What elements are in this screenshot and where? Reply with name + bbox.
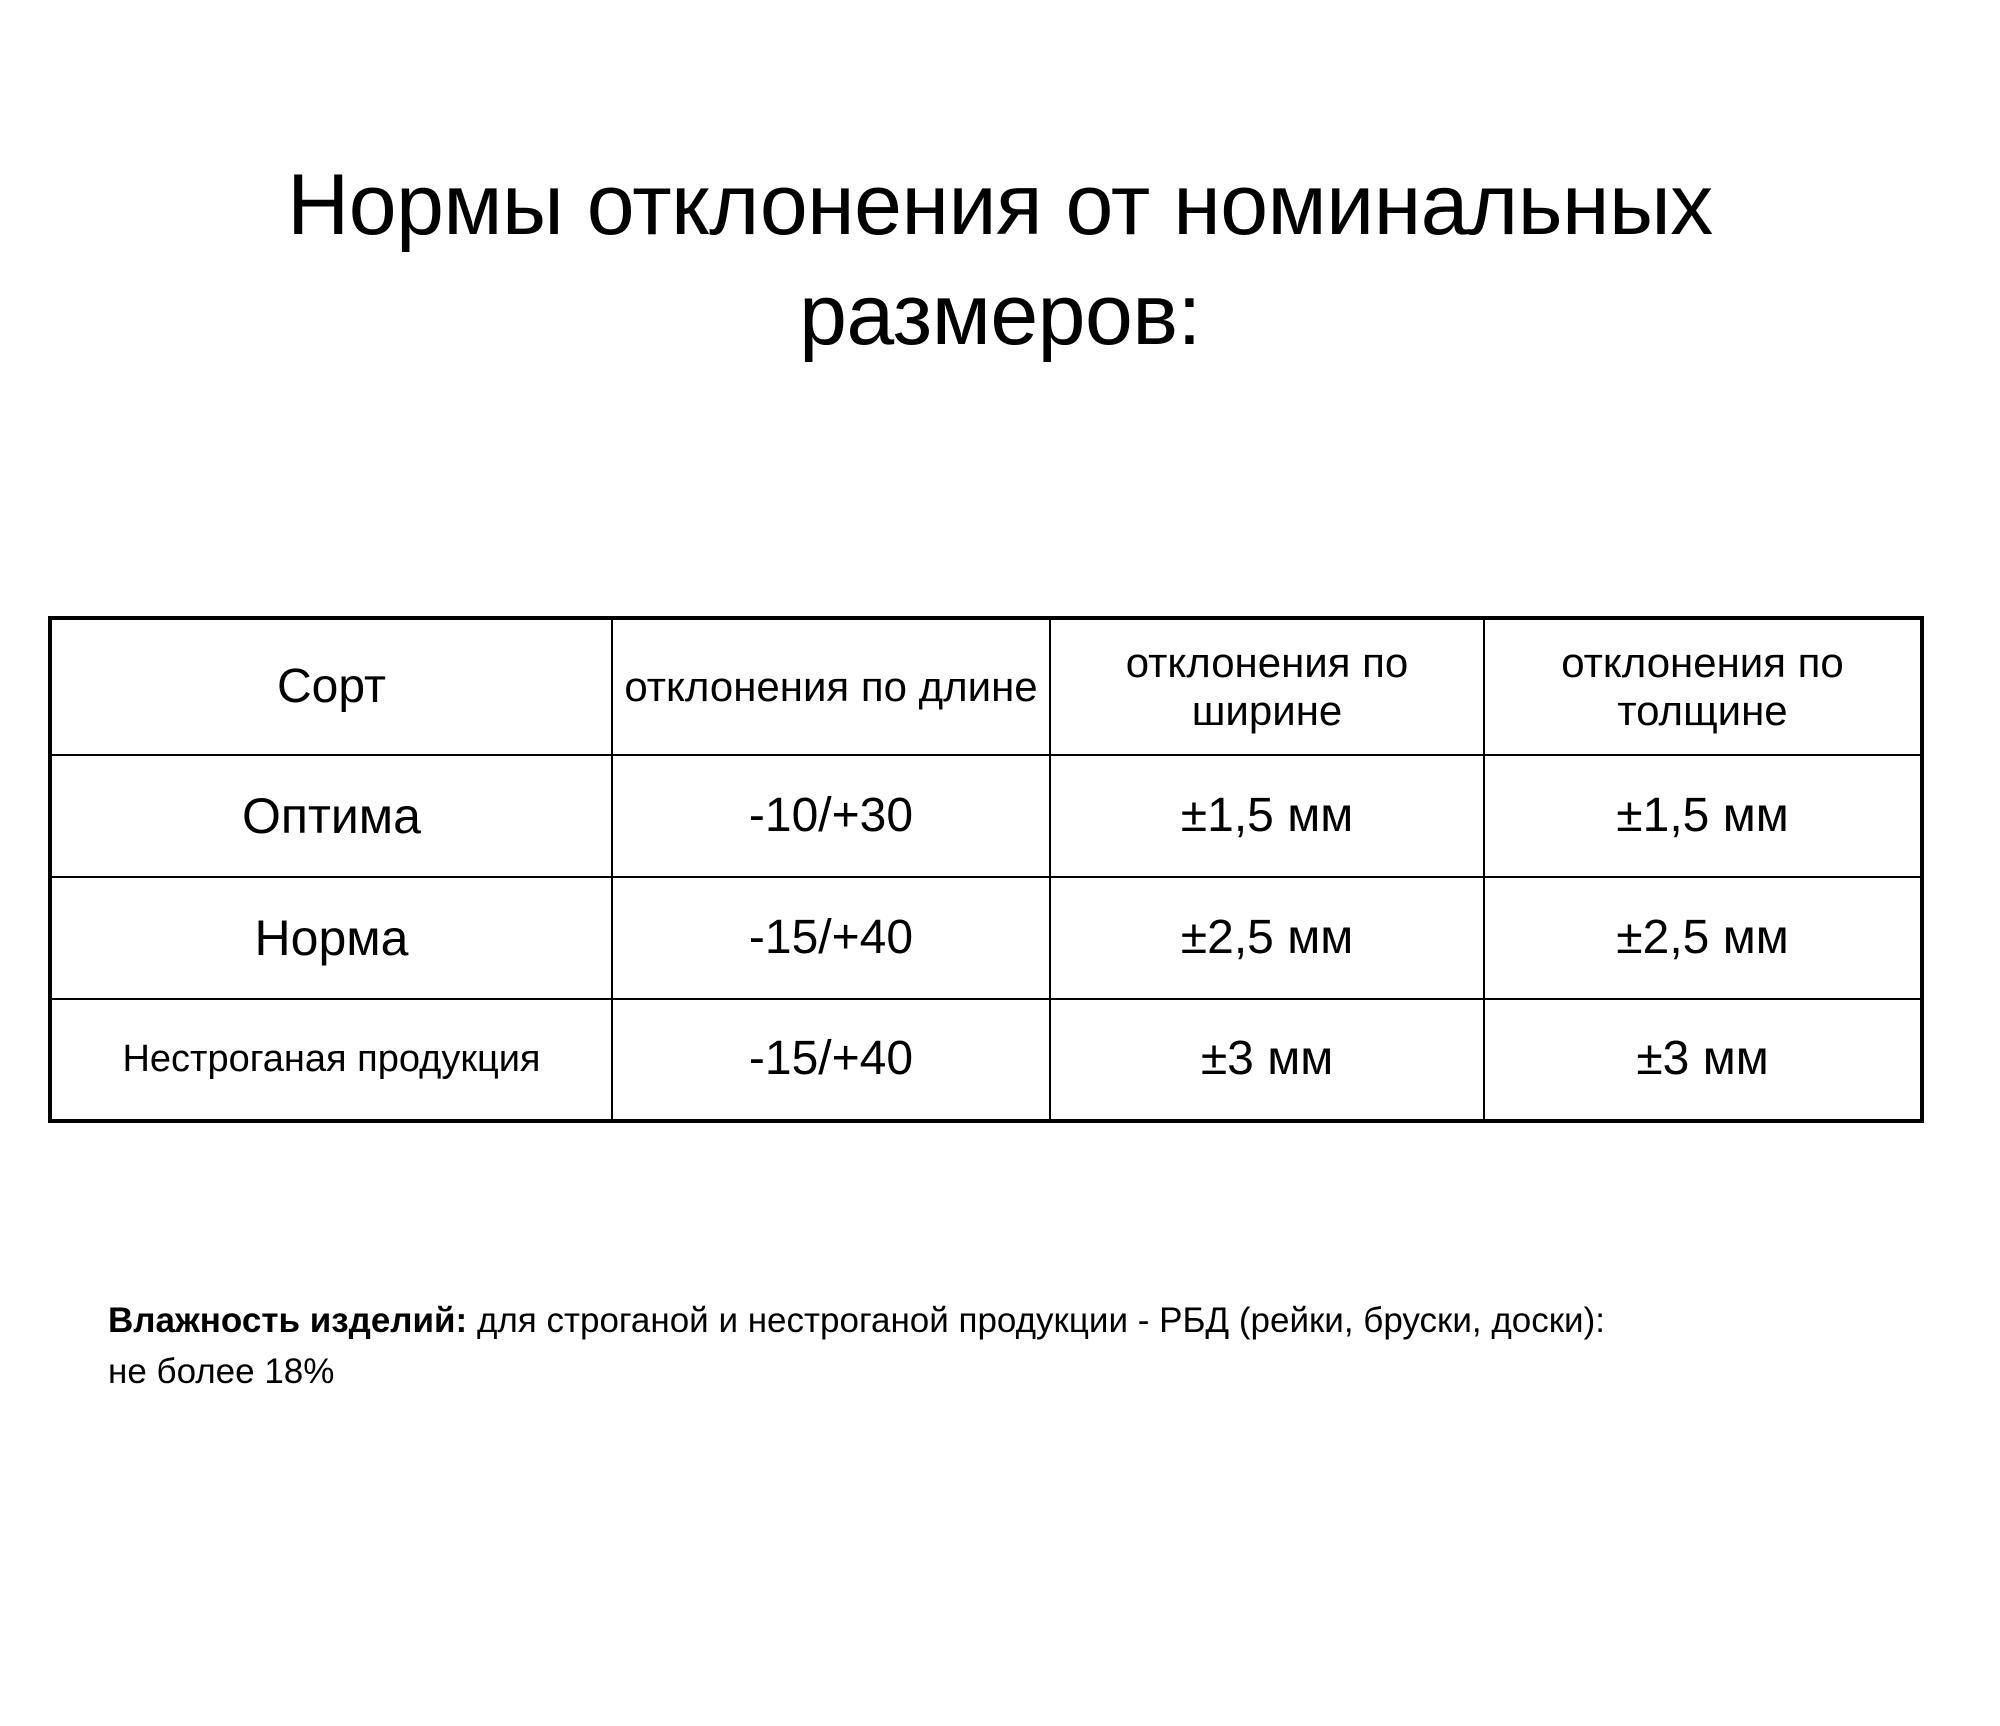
column-header-width: отклонения по ширине <box>1050 618 1484 755</box>
cell-grade: Норма <box>50 877 612 999</box>
cell-grade: Оптима <box>50 755 612 877</box>
column-header-thickness: отклонения по толщине <box>1484 618 1922 755</box>
cell-thickness: ±3 мм <box>1484 999 1922 1121</box>
cell-length: -15/+40 <box>612 877 1050 999</box>
cell-length: -10/+30 <box>612 755 1050 877</box>
cell-width: ±1,5 мм <box>1050 755 1484 877</box>
cell-grade: Нестроганая продукция <box>50 999 612 1121</box>
cell-length: -15/+40 <box>612 999 1050 1121</box>
page-title: Нормы отклонения от номинальных размеров… <box>100 150 1900 370</box>
cell-width: ±2,5 мм <box>1050 877 1484 999</box>
table-row: Норма -15/+40 ±2,5 мм ±2,5 мм <box>50 877 1922 999</box>
table-row: Нестроганая продукция -15/+40 ±3 мм ±3 м… <box>50 999 1922 1121</box>
column-header-length: отклонения по длине <box>612 618 1050 755</box>
deviation-norms-table: Сорт отклонения по длине отклонения по ш… <box>48 616 1924 1123</box>
cell-thickness: ±1,5 мм <box>1484 755 1922 877</box>
table-header-row: Сорт отклонения по длине отклонения по ш… <box>50 618 1922 755</box>
moisture-note-text: для строганой и нестроганой продукции - … <box>467 1301 1605 1340</box>
cell-width: ±3 мм <box>1050 999 1484 1121</box>
cell-thickness: ±2,5 мм <box>1484 877 1922 999</box>
slide-canvas: Нормы отклонения от номинальных размеров… <box>0 0 2000 1726</box>
deviation-table-container: Сорт отклонения по длине отклонения по ш… <box>48 616 1920 1123</box>
moisture-note-line2: не более 18% <box>108 1347 1908 1398</box>
table-row: Оптима -10/+30 ±1,5 мм ±1,5 мм <box>50 755 1922 877</box>
moisture-note: Влажность изделий: для строганой и нестр… <box>108 1296 1908 1398</box>
column-header-grade: Сорт <box>50 618 612 755</box>
moisture-note-label: Влажность изделий: <box>108 1301 467 1340</box>
